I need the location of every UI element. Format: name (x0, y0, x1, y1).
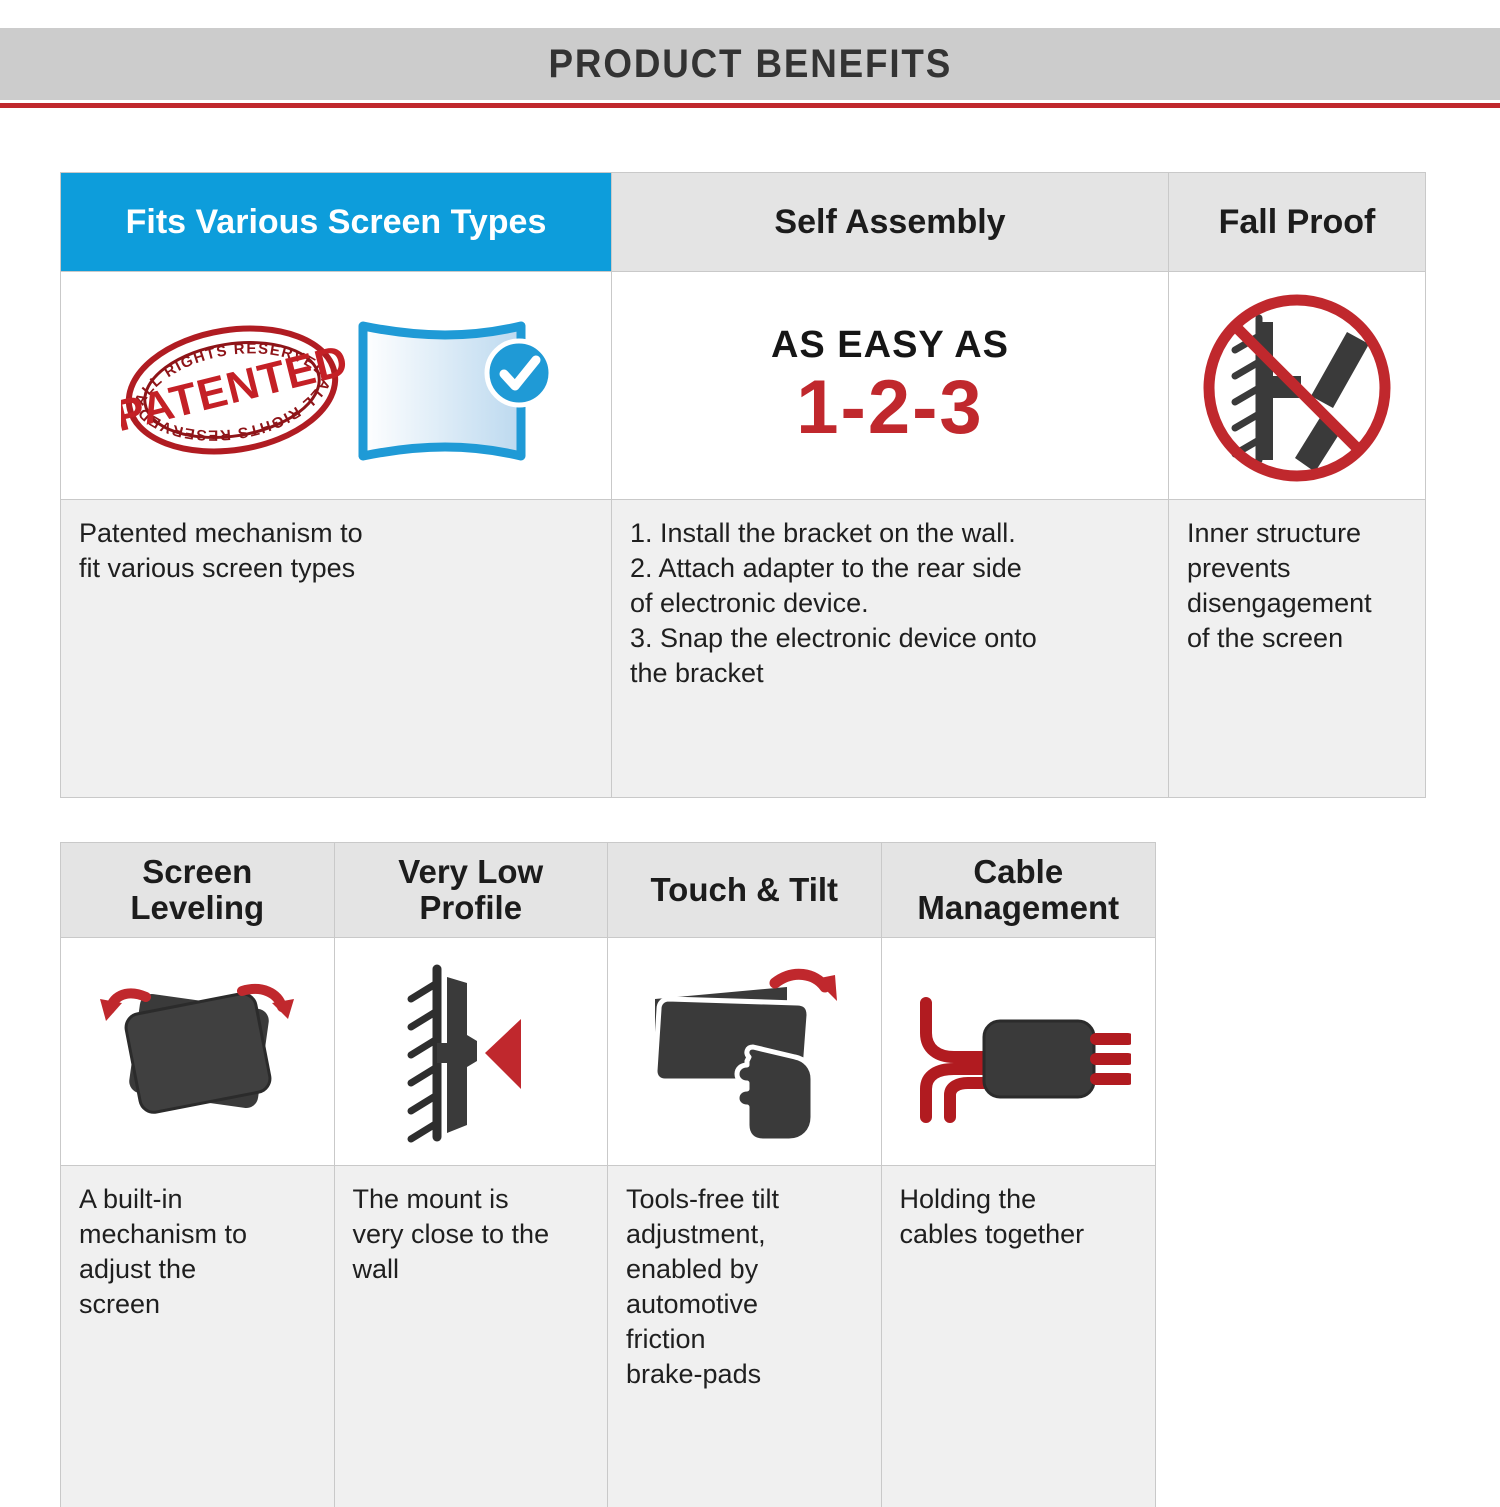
tilting-screen-rotation-icon (61, 937, 335, 1165)
description-screen-leveling: A built-in mechanism to adjust the scree… (61, 1165, 335, 1507)
screen-leveling-svg (90, 959, 305, 1144)
page-title: PRODUCT BENEFITS (548, 42, 952, 87)
column-header-self-assembly[interactable]: Self Assembly (612, 173, 1169, 271)
description-fall-proof: Inner structure prevents disengagement o… (1169, 499, 1425, 797)
no-fall-prohibition-icon (1169, 271, 1425, 499)
header-label: Touch & Tilt (650, 872, 838, 908)
header-red-rule (0, 103, 1500, 108)
low-profile-svg (381, 957, 561, 1147)
benefits-table-secondary: Screen Leveling Very Low Profile Touch &… (60, 842, 1156, 1507)
column-header-screen-leveling[interactable]: Screen Leveling (61, 843, 335, 937)
no-fall-svg (1197, 288, 1397, 484)
cable-routing-icon (882, 937, 1156, 1165)
header-label: Screen Leveling (130, 854, 264, 925)
table-icon-row: • ALL RIGHTS RESERVED • • ALL RIGHTS RES… (61, 271, 1425, 499)
touch-tilt-svg (637, 957, 852, 1147)
column-header-cable-management[interactable]: Cable Management (882, 843, 1156, 937)
description-fits-various-screen-types: Patented mechanism to fit various screen… (61, 499, 612, 797)
description-self-assembly: 1. Install the bracket on the wall. 2. A… (612, 499, 1169, 797)
table-description-row: A built-in mechanism to adjust the scree… (61, 1165, 1155, 1507)
header-label: Fall Proof (1219, 204, 1376, 241)
description-touch-and-tilt: Tools-free tilt adjustment, enabled by a… (608, 1165, 882, 1507)
description-very-low-profile: The mount is very close to the wall (335, 1165, 609, 1507)
patented-screen-svg: • ALL RIGHTS RESERVED • • ALL RIGHTS RES… (121, 298, 551, 473)
page-header-banner: PRODUCT BENEFITS (0, 28, 1500, 100)
header-label: Cable Management (917, 854, 1119, 925)
easy-numbers: 1-2-3 (771, 370, 1009, 446)
cable-management-svg (906, 977, 1131, 1127)
table-description-row: Patented mechanism to fit various screen… (61, 499, 1425, 797)
column-header-fall-proof[interactable]: Fall Proof (1169, 173, 1425, 271)
column-header-touch-and-tilt[interactable]: Touch & Tilt (608, 843, 882, 937)
as-easy-as-123-icon: AS EASY AS 1-2-3 (612, 271, 1169, 499)
table-header-row: Screen Leveling Very Low Profile Touch &… (61, 843, 1155, 937)
wall-low-profile-icon (335, 937, 609, 1165)
table-icon-row (61, 937, 1155, 1165)
table-header-row: Fits Various Screen Types Self Assembly … (61, 173, 1425, 271)
patented-stamp-and-curved-screen-icon: • ALL RIGHTS RESERVED • • ALL RIGHTS RES… (61, 271, 612, 499)
header-label: Fits Various Screen Types (126, 204, 547, 241)
description-cable-management: Holding the cables together (882, 1165, 1156, 1507)
header-label: Self Assembly (774, 204, 1005, 241)
benefits-table-primary: Fits Various Screen Types Self Assembly … (60, 172, 1426, 798)
easy-text-block: AS EASY AS 1-2-3 (771, 326, 1009, 446)
hand-tilt-screen-icon (608, 937, 882, 1165)
column-header-fits-various-screen-types[interactable]: Fits Various Screen Types (61, 173, 612, 271)
column-header-very-low-profile[interactable]: Very Low Profile (335, 843, 609, 937)
header-label: Very Low Profile (398, 854, 543, 925)
easy-top-line: AS EASY AS (771, 326, 1009, 364)
